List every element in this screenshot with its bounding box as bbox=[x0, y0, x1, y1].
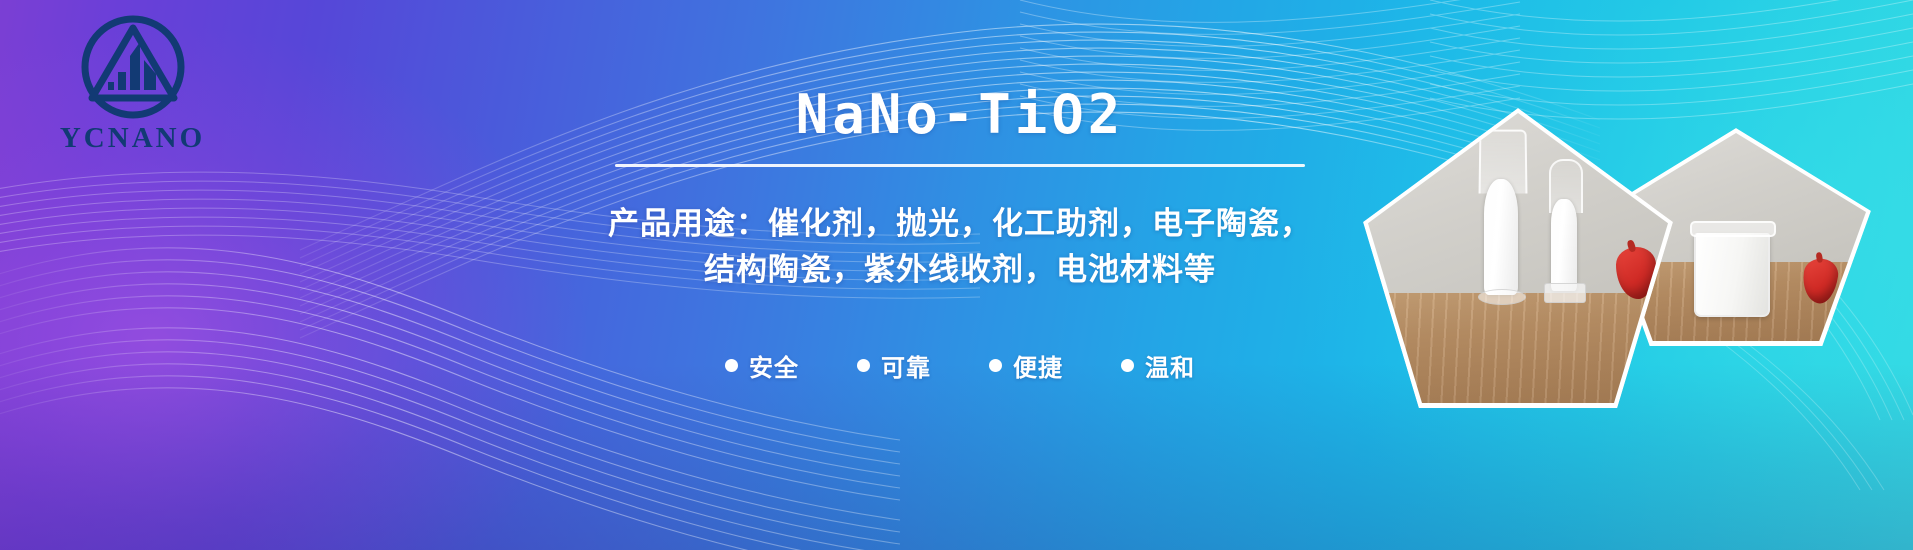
vase-a-body-icon bbox=[1484, 179, 1518, 295]
title-divider bbox=[615, 164, 1305, 167]
brand-logo[interactable]: YCNANO bbox=[40, 12, 225, 153]
feature-label: 便捷 bbox=[1013, 348, 1063, 383]
usage-line-1: 产品用途：催化剂，抛光，化工助剂，电子陶瓷， bbox=[520, 201, 1400, 247]
product-usage-description: 产品用途：催化剂，抛光，化工助剂，电子陶瓷， 结构陶瓷，紫外线收剂，电池材料等 bbox=[520, 201, 1400, 293]
vase-b-body-icon bbox=[1551, 199, 1577, 291]
vase-a-base-icon bbox=[1478, 289, 1526, 305]
dot-bullet-icon bbox=[725, 359, 738, 372]
banner-content: NaNo-TiO2 产品用途：催化剂，抛光，化工助剂，电子陶瓷， 结构陶瓷，紫外… bbox=[480, 0, 1440, 550]
feature-label: 安全 bbox=[749, 348, 799, 383]
feature-item-safe: 安全 bbox=[725, 348, 799, 383]
dot-bullet-icon bbox=[857, 359, 870, 372]
ycnano-mountain-circle-logo-icon bbox=[78, 12, 188, 122]
product-title: NaNo-TiO2 bbox=[480, 0, 1440, 142]
feature-item-mild: 温和 bbox=[1121, 348, 1195, 383]
white-vases-product-photo bbox=[1363, 108, 1673, 408]
beaker-rim-icon bbox=[1690, 221, 1776, 237]
feature-item-reliable: 可靠 bbox=[857, 348, 931, 383]
usage-line-2: 结构陶瓷，紫外线收剂，电池材料等 bbox=[520, 247, 1400, 293]
dot-bullet-icon bbox=[1121, 359, 1134, 372]
beaker-body-icon bbox=[1694, 233, 1770, 317]
brand-wordmark: YCNANO bbox=[40, 124, 225, 153]
feature-item-convenient: 便捷 bbox=[989, 348, 1063, 383]
dot-bullet-icon bbox=[989, 359, 1002, 372]
vase-b-base-icon bbox=[1544, 283, 1586, 303]
feature-label: 温和 bbox=[1145, 348, 1195, 383]
promo-banner: YCNANO NaNo-TiO2 产品用途：催化剂，抛光，化工助剂，电子陶瓷， … bbox=[0, 0, 1913, 550]
photo-inner bbox=[1368, 113, 1668, 403]
feature-label: 可靠 bbox=[881, 348, 931, 383]
product-photo-group bbox=[1353, 0, 1913, 550]
feature-list: 安全 可靠 便捷 温和 bbox=[480, 348, 1440, 383]
